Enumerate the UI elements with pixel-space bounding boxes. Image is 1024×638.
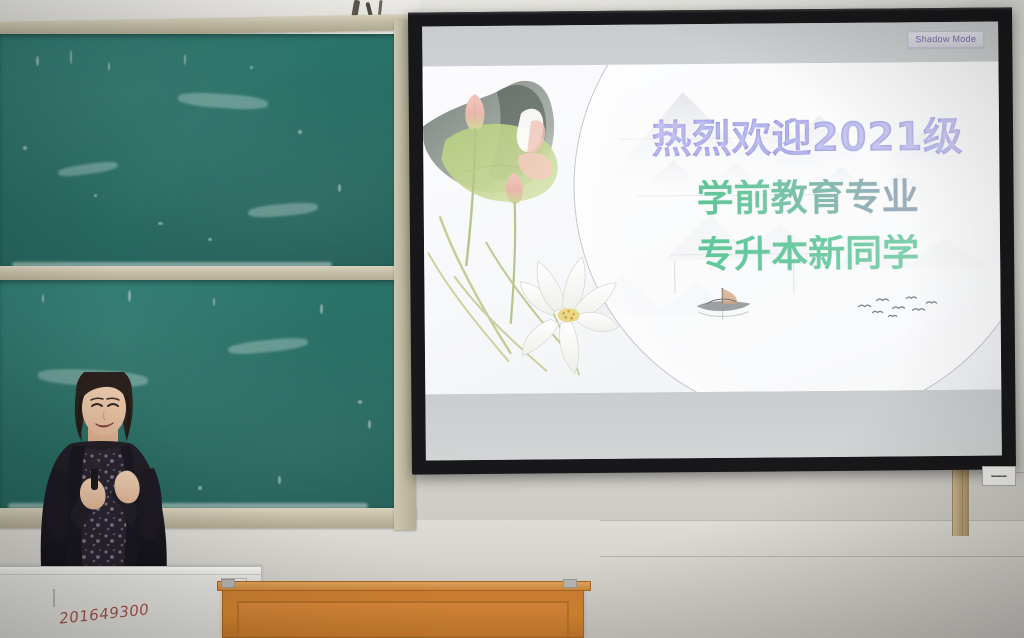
presentation-slide: 热烈欢迎2021级 学前教育专业 专升本新同学 bbox=[422, 61, 1001, 394]
slide-title-line-2: 学前教育专业 bbox=[627, 177, 987, 218]
presenter-figure bbox=[18, 372, 190, 594]
birds-flock-icon bbox=[854, 294, 944, 325]
classroom-scene: Shadow Mode bbox=[0, 0, 1024, 638]
desk-top-edge bbox=[217, 581, 591, 591]
desk-bracket bbox=[563, 579, 577, 588]
slide-title-line-1: 热烈欢迎2021级 bbox=[627, 117, 987, 161]
screen-surface: Shadow Mode bbox=[422, 21, 1002, 460]
wall-label-plate: ▬▬▬ bbox=[982, 466, 1016, 486]
lotus-bloom bbox=[520, 257, 619, 374]
shadow-mode-badge[interactable]: Shadow Mode bbox=[907, 31, 984, 49]
sampan-boat-icon bbox=[692, 286, 762, 333]
desk-front-panel bbox=[237, 601, 569, 637]
podium-seam bbox=[53, 589, 55, 607]
lotus-bud bbox=[506, 173, 524, 324]
chalkboard-panel-upper bbox=[0, 34, 398, 270]
wall-seam bbox=[600, 556, 1024, 557]
podium-handwritten-mark: 201649300 bbox=[59, 600, 150, 628]
wooden-desk[interactable] bbox=[222, 586, 584, 638]
letterbox-bar-bottom bbox=[425, 389, 1002, 460]
podium-top-edge bbox=[0, 567, 261, 575]
desk-bracket bbox=[221, 579, 235, 588]
slide-title-line-3: 专升本新同学 bbox=[628, 233, 988, 274]
slide-title-block: 热烈欢迎2021级 学前教育专业 专升本新同学 bbox=[627, 117, 988, 274]
projection-screen[interactable]: Shadow Mode bbox=[408, 7, 1016, 474]
